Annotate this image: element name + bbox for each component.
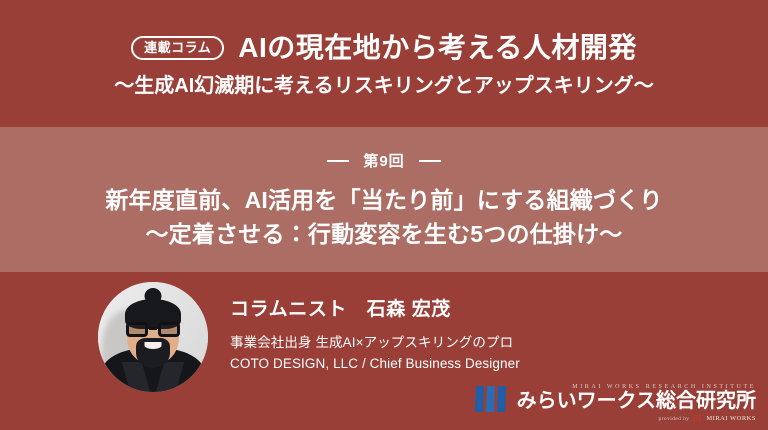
provided-by: provided by MIRAI WORKS: [659, 415, 756, 422]
header-band: 連載コラム AIの現在地から考える人材開発 〜生成AI幻滅期に考えるリスキリング…: [0, 0, 768, 127]
series-title-row: 連載コラム AIの現在地から考える人材開発: [131, 33, 637, 64]
episode-number-label: 第9回: [363, 150, 404, 171]
episode-band: 第9回 新年度直前、AI活用を「当たり前」にする組織づくり 〜定着させる：行動変…: [0, 127, 768, 272]
mirai-works-mark-icon: [475, 384, 509, 414]
episode-headline-line2: 〜定着させる：行動変容を生む5つの仕掛け〜: [105, 218, 662, 251]
column-banner: 連載コラム AIの現在地から考える人材開発 〜生成AI幻滅期に考えるリスキリング…: [0, 0, 768, 430]
page-subtitle: 〜生成AI幻滅期に考えるリスキリングとアップスキリング〜: [114, 74, 653, 98]
rule-right-icon: [419, 160, 441, 162]
avatar: [98, 282, 208, 392]
author-block: コラムニスト 石森 宏茂 事業会社出身 生成AI×アップスキリングのプロ COT…: [98, 282, 520, 392]
glasses-bridge: [149, 327, 157, 330]
author-name: コラムニスト 石森 宏茂: [230, 299, 520, 322]
glasses-lens-right: [158, 322, 180, 337]
glasses-lens-left: [126, 322, 148, 337]
author-description: 事業会社出身 生成AI×アップスキリングのプロ: [230, 333, 520, 354]
rule-left-icon: [327, 160, 349, 162]
series-badge: 連載コラム: [131, 36, 224, 60]
brand-name: みらいワークス総合研究所: [517, 391, 756, 412]
episode-headline-line1: 新年度直前、AI活用を「当たり前」にする組織づくり: [105, 184, 662, 217]
author-role: COTO DESIGN, LLC / Chief Business Design…: [230, 354, 520, 375]
glasses-icon: [125, 322, 181, 337]
provided-by-label: provided by: [659, 416, 690, 422]
avatar-topknot: [145, 288, 162, 304]
brand-logo: MIRAI WORKS RESEARCH INSTITUTE みらいワークス総合…: [475, 384, 756, 422]
avatar-smile: [145, 342, 162, 349]
author-text: コラムニスト 石森 宏茂 事業会社出身 生成AI×アップスキリングのプロ COT…: [230, 299, 520, 375]
author-band: コラムニスト 石森 宏茂 事業会社出身 生成AI×アップスキリングのプロ COT…: [0, 272, 768, 430]
episode-number: 第9回: [327, 150, 440, 171]
page-title: AIの現在地から考える人材開発: [238, 33, 637, 64]
provided-by-mark-icon: [693, 415, 702, 422]
brand-logo-text: MIRAI WORKS RESEARCH INSTITUTE みらいワークス総合…: [517, 384, 756, 422]
episode-headline: 新年度直前、AI活用を「当たり前」にする組織づくり 〜定着させる：行動変容を生む…: [105, 184, 662, 251]
provided-by-name: MIRAI WORKS: [706, 415, 756, 422]
